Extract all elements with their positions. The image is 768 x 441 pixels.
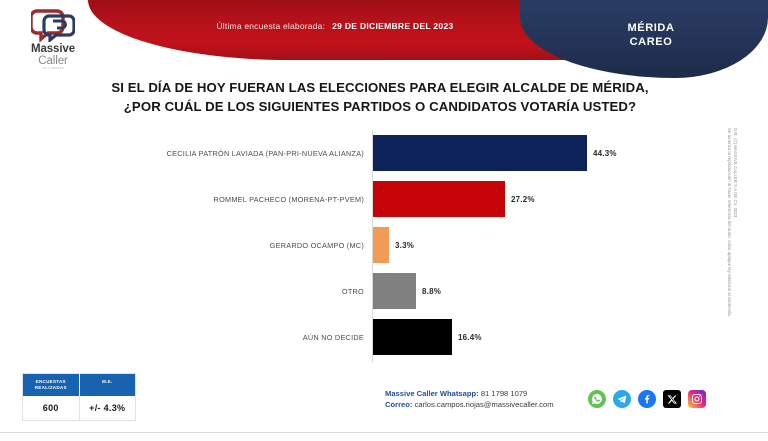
stats-header-margin-error: M.E. — [80, 374, 136, 396]
chart-category-label: CECILIA PATRÓN LAVIADA (PAN-PRI-NUEVA AL… — [120, 130, 364, 176]
chart-row: OTRO8.8% — [120, 268, 640, 314]
stats-value-margin-error: +/- 4.3% — [80, 396, 136, 420]
whatsapp-icon[interactable] — [588, 390, 606, 408]
telegram-icon[interactable] — [613, 390, 631, 408]
survey-stats-value-row: 600 +/- 4.3% — [23, 396, 135, 420]
page-title: SI EL DÍA DE HOY FUERAN LAS ELECCIONES P… — [40, 78, 720, 116]
contact-whatsapp-label: Massive Caller Whatsapp: — [385, 389, 479, 398]
chart-value-label: 44.3% — [593, 130, 617, 176]
copyright-line1: D.R. (C) MASSIVE CALLER S.A DE CV. 2023 — [732, 128, 738, 378]
chart-category-label: GERARDO OCAMPO (MC) — [120, 222, 364, 268]
instagram-icon[interactable] — [688, 390, 706, 408]
chart-row: ROMMEL PACHECO (MORENA-PT-PVEM)27.2% — [120, 176, 640, 222]
chart-value-label: 3.3% — [395, 222, 414, 268]
survey-stats-table: ENCUESTAS REALIZADAS M.E. 600 +/- 4.3% — [22, 373, 136, 421]
footer-strip — [0, 433, 768, 441]
chart-value-label: 27.2% — [511, 176, 535, 222]
poll-infographic: Última encuesta elaborada:29 DE DICIEMBR… — [0, 0, 768, 441]
contact-email-label: Correo: — [385, 400, 412, 409]
x-twitter-icon[interactable] — [663, 390, 681, 408]
survey-date-label: Última encuesta elaborada: — [216, 21, 325, 31]
contact-whatsapp-value[interactable]: 81 1798 1079 — [481, 389, 527, 398]
stats-value-sample-size: 600 — [23, 396, 80, 420]
chart-row: AÚN NO DECIDE16.4% — [120, 314, 640, 360]
logo-word-massive: Massive — [18, 44, 88, 55]
contact-whatsapp-row: Massive Caller Whatsapp: 81 1798 1079 — [385, 388, 554, 399]
chart-category-label: OTRO — [120, 268, 364, 314]
stats-header-encuestas: ENCUESTAS REALIZADAS — [23, 374, 80, 396]
chart-row: GERARDO OCAMPO (MC)3.3% — [120, 222, 640, 268]
chart-bar — [373, 227, 389, 263]
logo-word-caller: Caller — [18, 55, 88, 67]
contact-info: Massive Caller Whatsapp: 81 1798 1079 Co… — [385, 388, 554, 410]
chart-row: CECILIA PATRÓN LAVIADA (PAN-PRI-NUEVA AL… — [120, 130, 640, 176]
chart-bar — [373, 273, 416, 309]
chart-bar — [373, 135, 587, 171]
chart-value-label: 16.4% — [458, 314, 482, 360]
brand-logo: Massive Caller CALL CENTER — [18, 8, 88, 70]
survey-date-value: 29 DE DICIEMBRE DEL 2023 — [332, 21, 453, 31]
chart-bar — [373, 181, 505, 217]
contact-email-row: Correo: carlos.campos.riojas@massivecall… — [385, 399, 554, 410]
page-title-line1: SI EL DÍA DE HOY FUERAN LAS ELECCIONES P… — [40, 78, 720, 97]
chart-value-label: 8.8% — [422, 268, 441, 314]
copyright-line2: Se autoriza la reproducción al hacer ref… — [727, 128, 733, 378]
logo-tagline: CALL CENTER — [18, 67, 88, 70]
survey-date: Última encuesta elaborada:29 DE DICIEMBR… — [150, 21, 520, 31]
poll-location-line1: MÉRIDA — [566, 21, 736, 35]
poll-location-line2: CAREO — [566, 35, 736, 49]
copyright-notice: D.R. (C) MASSIVE CALLER S.A DE CV. 2023 … — [724, 128, 738, 378]
chart-category-label: AÚN NO DECIDE — [120, 314, 364, 360]
contact-email-value[interactable]: carlos.campos.riojas@massivecaller.com — [415, 400, 554, 409]
poll-location: MÉRIDA CAREO — [566, 21, 736, 49]
bar-chart: CECILIA PATRÓN LAVIADA (PAN-PRI-NUEVA AL… — [120, 130, 640, 362]
social-links — [588, 390, 706, 408]
massive-caller-logo-icon — [31, 8, 75, 42]
chart-bar — [373, 319, 452, 355]
page-title-line2: ¿POR CUÁL DE LOS SIGUIENTES PARTIDOS O C… — [40, 97, 720, 116]
survey-stats-header-row: ENCUESTAS REALIZADAS M.E. — [23, 374, 135, 396]
facebook-icon[interactable] — [638, 390, 656, 408]
header-banner: Última encuesta elaborada:29 DE DICIEMBR… — [0, 0, 768, 72]
chart-category-label: ROMMEL PACHECO (MORENA-PT-PVEM) — [120, 176, 364, 222]
